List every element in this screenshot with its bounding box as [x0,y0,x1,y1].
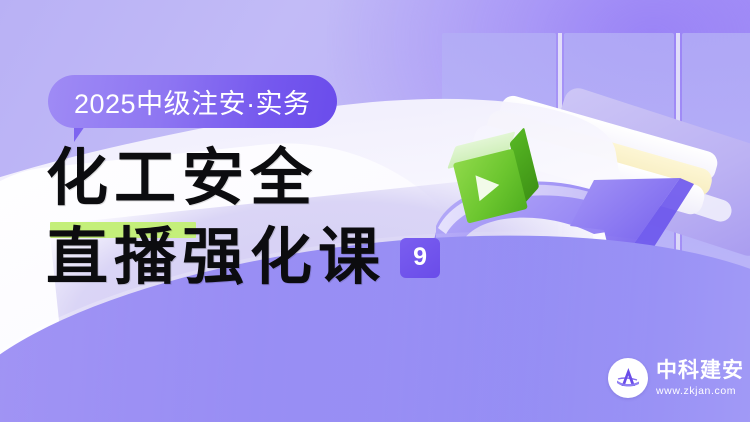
course-category-badge: 2025中级注安·实务 [48,75,337,128]
play-triangle-icon [476,172,502,201]
headline-block: 化工安全 直播强化课 9 [46,148,476,290]
episode-number-label: 9 [413,243,427,272]
brand-logo: 中科建安 www.zkjan.com [608,358,744,398]
brand-text: 中科建安 www.zkjan.com [656,359,744,396]
brand-name: 中科建安 [656,359,744,382]
badge-tail [74,126,96,142]
headline-line-2-row: 直播强化课 9 [46,227,476,290]
course-banner: 2025中级注安·实务 化工安全 直播强化课 9 中科建安 www.zkjan.… [0,0,750,422]
episode-number-badge: 9 [400,238,440,278]
headline-line-2: 直播强化课 [46,227,386,290]
zkjan-peak-logo-icon [608,358,648,398]
headline-line-1: 化工安全 [46,148,318,211]
headline-line-1-row: 化工安全 [46,148,476,211]
course-category-label: 2025中级注安·实务 [74,82,311,121]
brand-url: www.zkjan.com [656,385,744,397]
